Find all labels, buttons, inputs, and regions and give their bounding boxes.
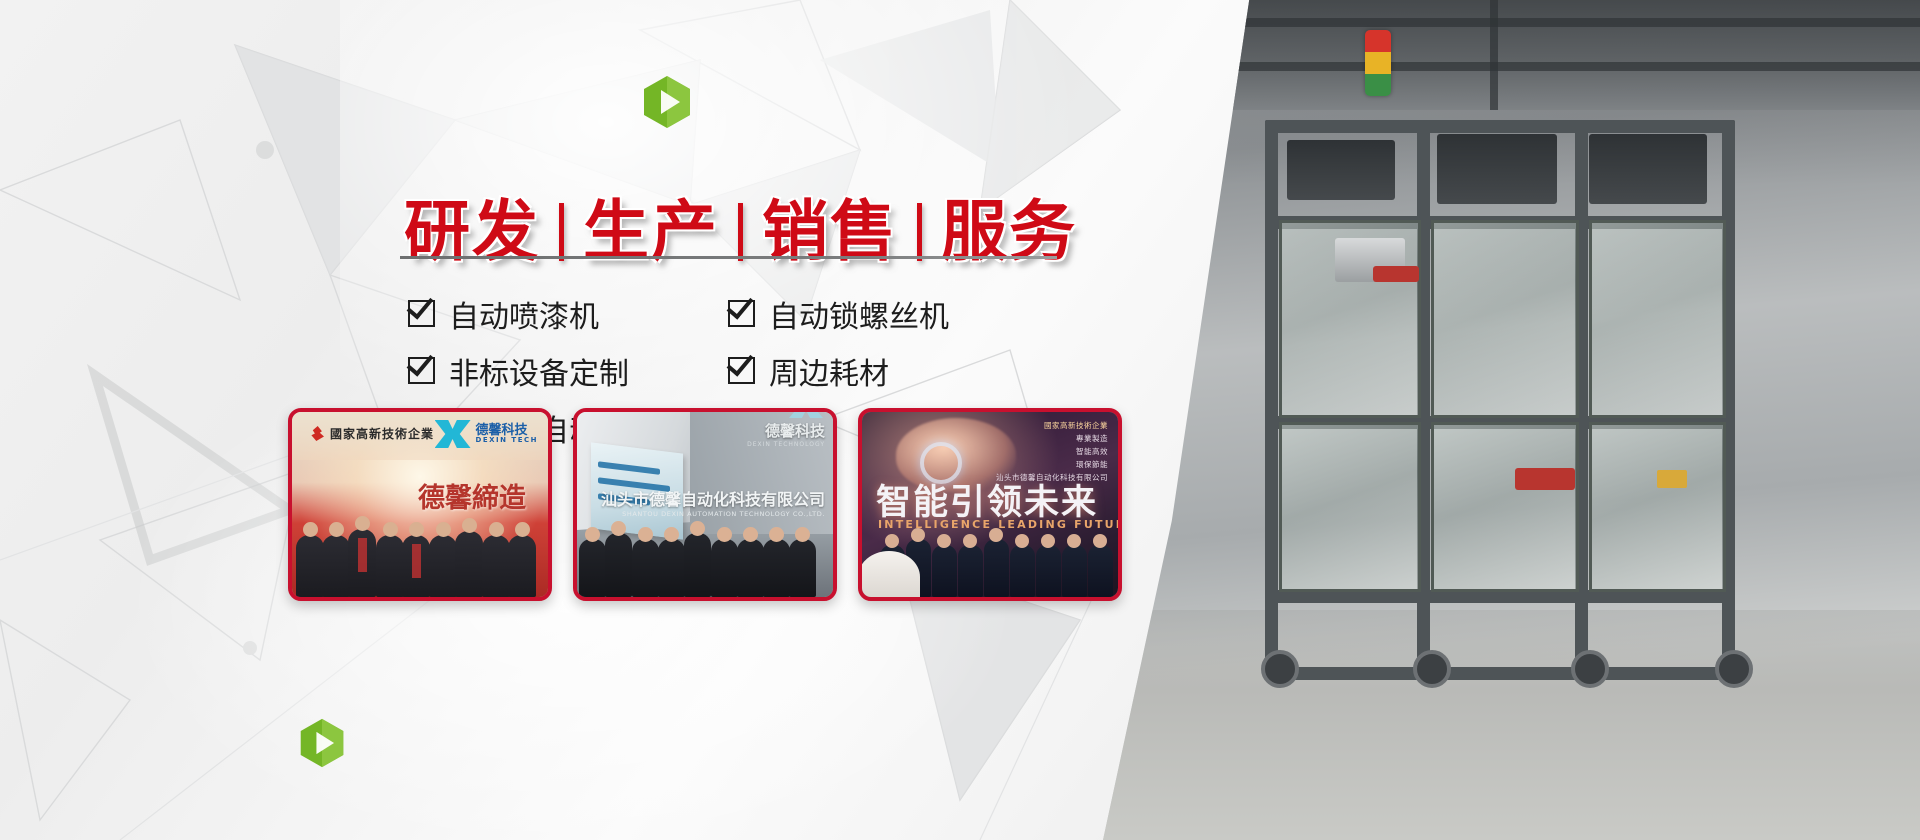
person <box>376 535 404 597</box>
poster-badge-2: 智能高效 <box>996 446 1108 457</box>
glass-panel <box>1279 422 1421 592</box>
wall-brand-logo: 德馨科技 DEXIN TECHNOLOGY <box>747 420 825 448</box>
glass-panel <box>1589 220 1726 418</box>
caster-wheel <box>1413 650 1451 688</box>
glass-panel <box>1431 220 1579 418</box>
person <box>348 529 376 597</box>
dexin-logo: 德馨科技 DEXIN TECH <box>435 420 538 448</box>
feature-label: 自动喷漆机 <box>449 292 599 336</box>
wall-company-name: 汕头市德馨自动化科技有限公司 SHANTOU DEXIN AUTOMATION … <box>601 486 825 518</box>
poster-badge-3: 環保節能 <box>996 459 1108 470</box>
tower-light-red <box>1365 30 1391 52</box>
person <box>579 539 606 597</box>
person <box>1088 545 1113 597</box>
person <box>482 535 510 597</box>
person <box>1010 545 1035 597</box>
feature-item-2: 自动锁螺丝机 <box>728 292 949 336</box>
green-hexagon-play-icon <box>640 75 694 129</box>
dexin-logo-text: 德馨科技 DEXIN TECH <box>476 424 538 445</box>
feature-item-4: 周边耗材 <box>728 349 949 393</box>
signal-tower-light-icon <box>1365 30 1391 96</box>
tower-light-green <box>1365 74 1391 96</box>
thumbnail-intelligent-future[interactable]: 國家高新技術企業 專業製造 智能高效 環保節能 汕头市德馨自动化科技有限公司 智… <box>858 408 1122 601</box>
checkbox-checked-icon <box>728 357 755 384</box>
person <box>737 539 764 597</box>
person <box>322 535 350 597</box>
tower-light-yellow <box>1365 52 1391 74</box>
ceiling-post <box>1490 0 1498 110</box>
control-box <box>1287 140 1395 200</box>
checkbox-checked-icon <box>408 357 435 384</box>
person <box>958 545 983 597</box>
ceiling-post <box>1180 0 1188 110</box>
thumbnail-gallery: 國家高新技術企業 德馨科技 DEXIN TECH 德馨締造 <box>288 408 1122 601</box>
person <box>632 539 659 597</box>
headline-separator: | <box>917 203 922 261</box>
person <box>402 535 430 597</box>
frame-rail <box>1265 667 1735 680</box>
flame-icon <box>310 426 324 441</box>
feature-label: 周边耗材 <box>769 349 889 393</box>
group-photo-people <box>292 509 548 597</box>
glass-panel <box>1589 422 1726 592</box>
award-title-text: 國家高新技術企業 <box>330 425 434 442</box>
person <box>605 533 632 597</box>
wall-brand-cn: 德馨科技 <box>747 420 825 441</box>
poster-badge-4: 國家高新技術企業 <box>996 420 1108 431</box>
person <box>429 535 457 597</box>
panel-text-line <box>598 461 660 475</box>
feature-item-3: 非标设备定制 <box>408 349 728 393</box>
person <box>984 539 1009 597</box>
promo-banner: 研发 | 生产 | 销售 | 服务 自动喷漆机 自动锁螺丝机 非标设备定制 <box>0 0 1920 840</box>
divider <box>400 256 1057 259</box>
person <box>296 535 324 597</box>
wall-company-cn: 汕头市德馨自动化科技有限公司 <box>601 486 825 510</box>
person <box>684 533 711 597</box>
person <box>455 531 483 597</box>
glass-panel <box>1431 422 1579 592</box>
person <box>1036 545 1061 597</box>
caster-wheel <box>1715 650 1753 688</box>
frame-rail <box>1265 120 1735 133</box>
feature-item-1: 自动喷漆机 <box>408 292 728 336</box>
checkbox-checked-icon <box>408 300 435 327</box>
checkbox-checked-icon <box>728 300 755 327</box>
machine-yellow-part <box>1657 470 1687 488</box>
wall-brand-en: DEXIN TECHNOLOGY <box>747 441 825 448</box>
control-box <box>1589 134 1707 204</box>
banner-content: 研发 | 生产 | 销售 | 服务 自动喷漆机 自动锁螺丝机 非标设备定制 <box>0 0 1120 840</box>
machine-frame <box>1265 120 1735 680</box>
machine-red-part <box>1515 468 1575 490</box>
caster-wheel <box>1571 650 1609 688</box>
person <box>763 539 790 597</box>
group-photo-people <box>577 515 833 597</box>
headline-separator: | <box>738 203 743 261</box>
award-title: 國家高新技術企業 <box>310 425 434 442</box>
poster-badge-1: 專業製造 <box>996 433 1108 444</box>
robot-arm-red <box>1373 266 1419 282</box>
person <box>1062 545 1087 597</box>
person <box>789 539 816 597</box>
person <box>932 545 957 597</box>
feature-label: 非标设备定制 <box>449 349 629 393</box>
person <box>508 535 536 597</box>
caster-wheel <box>1261 650 1299 688</box>
green-hexagon-play-icon-small <box>297 718 347 768</box>
person <box>658 539 685 597</box>
thumbnail-office-reception[interactable]: 德馨科技 DEXIN TECHNOLOGY 汕头市德馨自动化科技有限公司 SHA… <box>573 408 837 601</box>
person <box>711 539 738 597</box>
feature-label: 自动锁螺丝机 <box>769 292 949 336</box>
x-mark-logo-icon <box>435 420 471 448</box>
dexin-logo-en: DEXIN TECH <box>476 437 538 444</box>
control-box <box>1437 134 1557 204</box>
automation-machine-photo <box>1060 0 1920 840</box>
thumbnail-award-ceremony[interactable]: 國家高新技術企業 德馨科技 DEXIN TECH 德馨締造 <box>288 408 552 601</box>
headline-separator: | <box>559 203 564 261</box>
